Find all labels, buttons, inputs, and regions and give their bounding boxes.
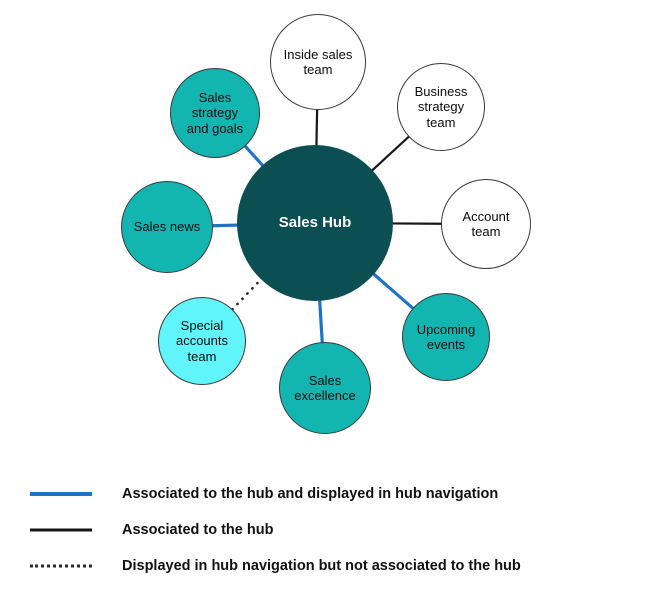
- hub-diagram: Inside sales team Business strategy team…: [0, 0, 650, 602]
- connector-hub-to-sales-strategy-and-goals: [245, 146, 264, 167]
- node-label: Upcoming events: [413, 322, 480, 353]
- node-label: Inside sales team: [280, 47, 357, 78]
- node-label: Sales excellence: [290, 373, 359, 404]
- connector-hub-to-inside-sales-team: [316, 109, 317, 147]
- connector-hub-to-business-strategy-team: [371, 136, 409, 171]
- node-label: Sales news: [130, 219, 204, 234]
- node-label: Special accounts team: [172, 318, 232, 364]
- node-account-team[interactable]: Account team: [441, 179, 531, 269]
- node-label: Business strategy team: [411, 84, 472, 130]
- connector-hub-to-sales-excellence: [320, 299, 323, 343]
- connector-hub-to-special-accounts-team: [232, 278, 263, 310]
- legend: Associated to the hub and displayed in h…: [0, 470, 650, 602]
- legend-item-dotted: Displayed in hub navigation but not asso…: [30, 548, 630, 584]
- node-special-accounts-team[interactable]: Special accounts team: [158, 297, 246, 385]
- hub-label: Sales Hub: [275, 214, 356, 232]
- node-sales-strategy-and-goals[interactable]: Sales strategy and goals: [170, 68, 260, 158]
- legend-label: Associated to the hub: [122, 522, 273, 538]
- connector-hub-to-sales-news: [212, 225, 239, 226]
- node-business-strategy-team[interactable]: Business strategy team: [397, 63, 485, 151]
- solid-black-line-icon: [30, 525, 92, 535]
- node-sales-hub[interactable]: Sales Hub: [237, 145, 393, 301]
- node-inside-sales-team[interactable]: Inside sales team: [270, 14, 366, 110]
- connector-hub-to-upcoming-events: [372, 273, 413, 309]
- solid-blue-line-icon: [30, 489, 92, 499]
- node-sales-excellence[interactable]: Sales excellence: [279, 342, 371, 434]
- legend-label: Displayed in hub navigation but not asso…: [122, 558, 521, 574]
- node-upcoming-events[interactable]: Upcoming events: [402, 293, 490, 381]
- legend-label: Associated to the hub and displayed in h…: [122, 486, 498, 502]
- node-sales-news[interactable]: Sales news: [121, 181, 213, 273]
- legend-item-black: Associated to the hub: [30, 512, 630, 548]
- node-label: Sales strategy and goals: [183, 90, 247, 136]
- legend-item-blue: Associated to the hub and displayed in h…: [30, 476, 630, 512]
- dotted-line-icon: [30, 561, 92, 571]
- node-label: Account team: [459, 209, 514, 240]
